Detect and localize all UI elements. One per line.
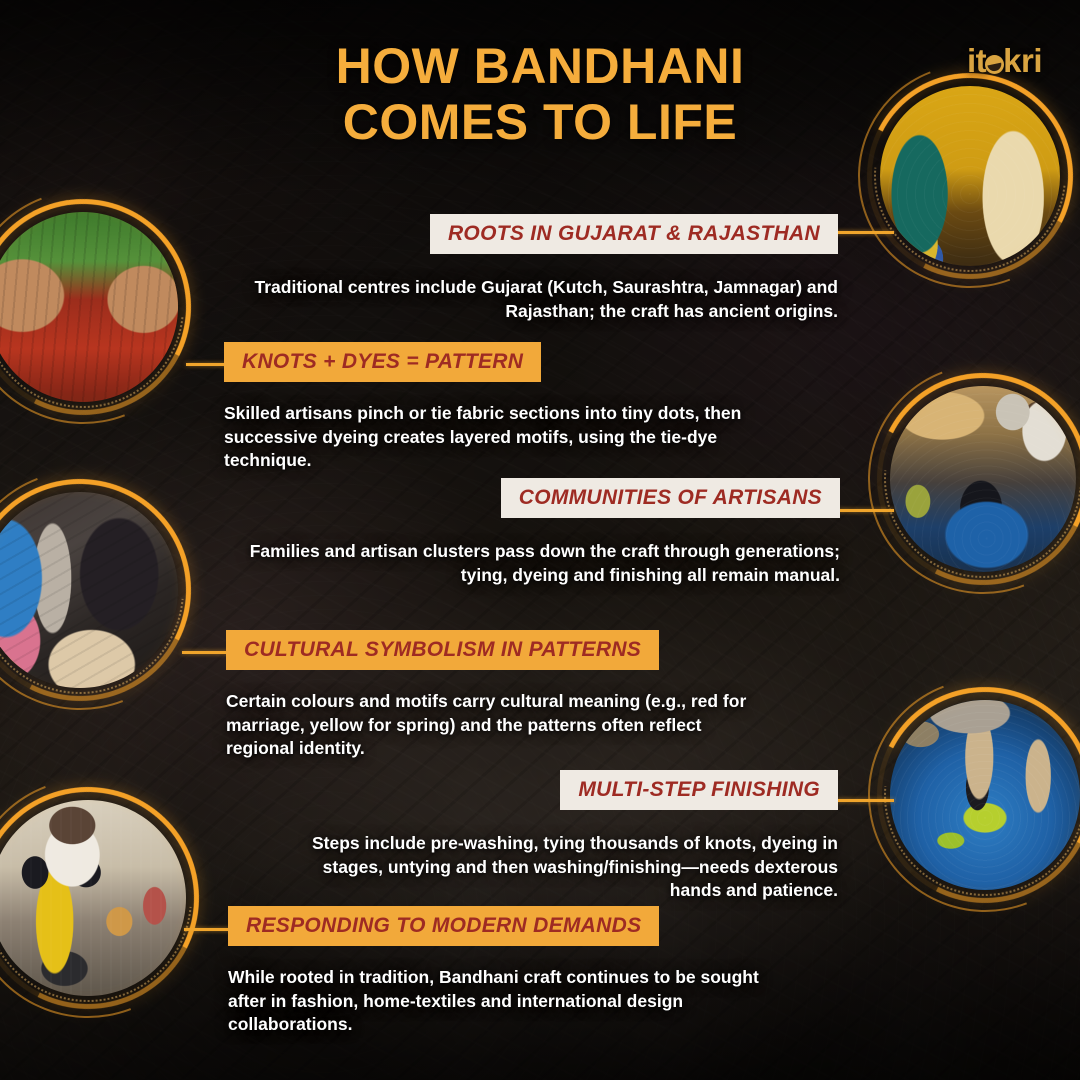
photo-dyer-blue-vat xyxy=(890,386,1076,572)
section-knots-tag[interactable]: KNOTS + DYES = PATTERN xyxy=(224,342,541,382)
page-title: HOW BANDHANI COMES TO LIFE xyxy=(0,38,1080,150)
photo-dyer-yellow-fabric xyxy=(0,800,186,996)
section-finishing-body: Steps include pre-washing, tying thousan… xyxy=(300,832,838,903)
section-modern-body: While rooted in tradition, Bandhani craf… xyxy=(228,966,788,1037)
section-knots-body: Skilled artisans pinch or tie fabric sec… xyxy=(224,402,744,473)
page-title-line-2: COMES TO LIFE xyxy=(0,94,1080,150)
section-roots-tag[interactable]: ROOTS IN GUJARAT & RAJASTHAN xyxy=(430,214,838,254)
section-communities-tag[interactable]: COMMUNITIES OF ARTISANS xyxy=(501,478,840,518)
photo-blue-vat-swirl xyxy=(890,700,1080,890)
brand-logo-text-b: kri xyxy=(1003,42,1042,79)
section-symbolism-tag[interactable]: CULTURAL SYMBOLISM IN PATTERNS xyxy=(226,630,659,670)
section-finishing-tag[interactable]: MULTI-STEP FINISHING xyxy=(560,770,838,810)
section-modern-tag[interactable]: RESPONDING TO MODERN DEMANDS xyxy=(228,906,659,946)
connector-line-communities xyxy=(838,509,894,512)
section-symbolism-body: Certain colours and motifs carry cultura… xyxy=(226,690,766,761)
section-symbolism: CULTURAL SYMBOLISM IN PATTERNS Certain c… xyxy=(226,630,766,761)
connector-line-roots xyxy=(834,231,894,234)
section-modern: RESPONDING TO MODERN DEMANDS While roote… xyxy=(228,906,788,1037)
brand-logo-text-a: it xyxy=(967,42,986,79)
connector-line-symbolism xyxy=(182,651,230,654)
section-roots-body: Traditional centres include Gujarat (Kut… xyxy=(238,276,838,323)
connector-line-finishing xyxy=(836,799,894,802)
section-communities: COMMUNITIES OF ARTISANS Families and art… xyxy=(240,478,840,587)
photo-hands-red-fabric xyxy=(0,212,178,402)
section-finishing: MULTI-STEP FINISHING Steps include pre-w… xyxy=(300,770,838,903)
page-title-line-1: HOW BANDHANI xyxy=(336,38,745,94)
brand-logo[interactable]: itkri xyxy=(967,42,1042,80)
section-roots: ROOTS IN GUJARAT & RAJASTHAN Traditional… xyxy=(238,214,838,323)
section-communities-body: Families and artisan clusters pass down … xyxy=(240,540,840,587)
logo-blob-icon xyxy=(985,55,1004,74)
photo-women-cream-fabric xyxy=(0,492,178,688)
section-knots: KNOTS + DYES = PATTERN Skilled artisans … xyxy=(224,342,744,473)
connector-line-modern xyxy=(184,928,230,931)
